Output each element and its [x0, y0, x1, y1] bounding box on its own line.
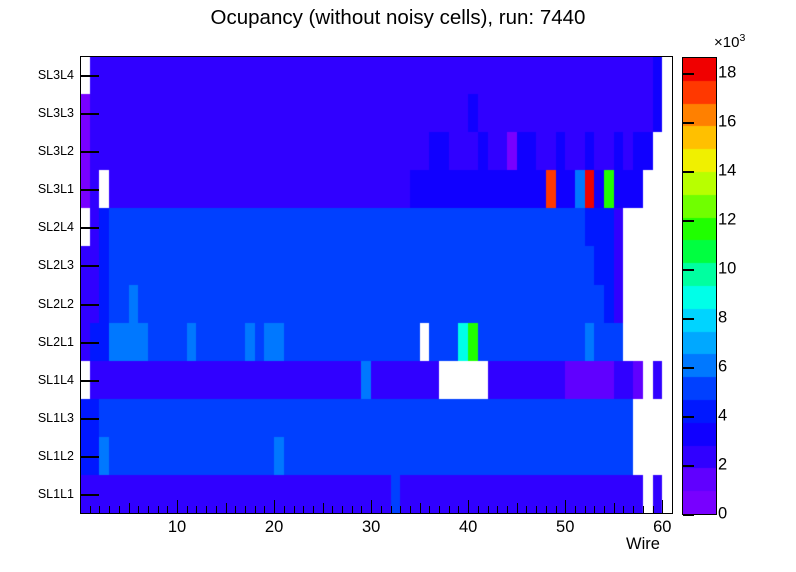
x-axis-tick-39 — [458, 506, 459, 513]
y-axis-tick-label-sl1l3: SL1L3 — [0, 411, 74, 425]
y-axis-tick-sl2l1 — [80, 342, 99, 344]
x-axis-tick-50 — [565, 500, 566, 513]
x-axis-tick-47 — [536, 506, 537, 513]
colorbar-tick-label-8: 8 — [718, 308, 727, 327]
x-axis-tick-label-30: 30 — [362, 518, 380, 537]
x-axis-tick-54 — [604, 506, 605, 513]
y-axis-tick-label-sl2l2: SL2L2 — [0, 297, 74, 311]
colorbar-tick-10 — [683, 269, 694, 271]
x-axis-tick-46 — [526, 506, 527, 513]
x-axis-tick-42 — [488, 506, 489, 513]
y-axis-tick-sl1l2 — [80, 456, 99, 458]
x-axis-tick-37 — [439, 506, 440, 513]
x-axis-tick-6 — [138, 506, 139, 513]
x-axis-tick-26 — [332, 506, 333, 513]
colorbar-tick-label-2: 2 — [718, 455, 727, 474]
y-axis-tick-sl2l2 — [80, 304, 99, 306]
x-axis-tick-8 — [158, 506, 159, 513]
x-axis-tick-44 — [507, 506, 508, 513]
colorbar-border-right — [716, 57, 717, 515]
axis-frame-bottom — [80, 513, 673, 514]
y-axis-tick-sl2l4 — [80, 227, 99, 229]
colorbar-gradient — [683, 58, 716, 514]
x-axis-tick-57 — [633, 506, 634, 513]
x-axis-tick-23 — [303, 506, 304, 513]
colorbar-tick-12 — [683, 220, 694, 222]
root-canvas: Ocupancy (without noisy cells), run: 744… — [0, 0, 796, 572]
x-axis-tick-22 — [294, 506, 295, 513]
y-axis-tick-sl3l4 — [80, 75, 99, 77]
x-axis-tick-43 — [497, 506, 498, 513]
x-axis-tick-19 — [264, 506, 265, 513]
y-axis-tick-sl1l3 — [80, 418, 99, 420]
x-axis-tick-36 — [429, 506, 430, 513]
colorbar-tick-4 — [683, 416, 694, 418]
x-axis-tick-5 — [129, 503, 130, 513]
y-axis-tick-label-sl1l2: SL1L2 — [0, 449, 74, 463]
x-axis-tick-34 — [410, 506, 411, 513]
x-axis-tick-11 — [187, 506, 188, 513]
x-axis-tick-30 — [371, 500, 372, 513]
colorbar-tick-label-18: 18 — [718, 63, 736, 82]
axis-frame-top — [80, 56, 673, 57]
x-axis-tick-21 — [284, 506, 285, 513]
x-axis-tick-58 — [643, 506, 644, 513]
x-axis-tick-27 — [342, 506, 343, 513]
colorbar-tick-8 — [683, 318, 694, 320]
x-axis-tick-33 — [400, 506, 401, 513]
y-axis-tick-label-sl3l2: SL3L2 — [0, 144, 74, 158]
x-axis-tick-14 — [216, 506, 217, 513]
x-axis-tick-2 — [99, 506, 100, 513]
x-axis-tick-60 — [662, 500, 663, 513]
colorbar-tick-label-14: 14 — [718, 161, 736, 180]
colorbar-tick-label-4: 4 — [718, 406, 727, 425]
y-axis-tick-label-sl3l4: SL3L4 — [0, 68, 74, 82]
x-axis-tick-59 — [653, 506, 654, 513]
x-axis-tick-52 — [585, 506, 586, 513]
page-title: Ocupancy (without noisy cells), run: 744… — [0, 6, 796, 30]
x-axis-tick-3 — [109, 506, 110, 513]
x-axis-tick-label-50: 50 — [556, 518, 574, 537]
x-axis-tick-10 — [177, 500, 178, 513]
y-axis-tick-label-sl1l1: SL1L1 — [0, 487, 74, 501]
x-axis-title: Wire — [626, 535, 660, 554]
x-axis-tick-35 — [420, 503, 421, 513]
axis-frame-left — [80, 56, 81, 514]
x-axis-tick-label-40: 40 — [459, 518, 477, 537]
colorbar-tick-0 — [683, 514, 694, 516]
y-axis-tick-label-sl3l1: SL3L1 — [0, 182, 74, 196]
colorbar-tick-6 — [683, 367, 694, 369]
x-axis-tick-label-20: 20 — [265, 518, 283, 537]
x-axis-tick-1 — [90, 506, 91, 513]
x-axis-tick-48 — [546, 506, 547, 513]
colorbar-exponent: ×103 — [714, 32, 745, 51]
colorbar-exponent-power: 3 — [739, 32, 745, 44]
x-axis-tick-13 — [206, 506, 207, 513]
x-axis-tick-24 — [313, 506, 314, 513]
y-axis-tick-sl3l3 — [80, 113, 99, 115]
colorbar-tick-18 — [683, 73, 694, 75]
x-axis-tick-17 — [245, 506, 246, 513]
y-axis-tick-label-sl1l4: SL1L4 — [0, 373, 74, 387]
colorbar-border-left — [682, 57, 683, 515]
x-axis-tick-53 — [594, 506, 595, 513]
y-axis-tick-sl2l3 — [80, 265, 99, 267]
y-axis-tick-label-sl3l3: SL3L3 — [0, 106, 74, 120]
y-axis-tick-label-sl2l1: SL2L1 — [0, 335, 74, 349]
y-axis-tick-sl3l1 — [80, 189, 99, 191]
x-axis-tick-61 — [672, 506, 673, 513]
x-axis-tick-51 — [575, 506, 576, 513]
x-axis-tick-55 — [614, 503, 615, 513]
x-axis-tick-7 — [148, 506, 149, 513]
x-axis-tick-18 — [255, 506, 256, 513]
y-axis-tick-label-sl2l3: SL2L3 — [0, 258, 74, 272]
y-axis-tick-label-sl2l4: SL2L4 — [0, 220, 74, 234]
colorbar-tick-label-6: 6 — [718, 357, 727, 376]
x-axis-tick-4 — [119, 506, 120, 513]
x-axis-tick-45 — [517, 503, 518, 513]
x-axis-tick-9 — [167, 506, 168, 513]
x-axis-tick-20 — [274, 500, 275, 513]
x-axis-tick-32 — [391, 506, 392, 513]
y-axis-tick-sl3l2 — [80, 151, 99, 153]
axis-frame-right — [672, 56, 673, 514]
x-axis-tick-56 — [623, 506, 624, 513]
x-axis-tick-31 — [381, 506, 382, 513]
colorbar-exponent-base: ×10 — [714, 34, 739, 51]
x-axis-tick-label-10: 10 — [168, 518, 186, 537]
x-axis-tick-15 — [226, 503, 227, 513]
x-axis-tick-38 — [449, 506, 450, 513]
colorbar-tick-label-0: 0 — [718, 505, 727, 524]
y-axis-tick-sl1l1 — [80, 494, 99, 496]
x-axis-tick-41 — [478, 506, 479, 513]
colorbar-border-top — [682, 57, 717, 58]
x-axis-tick-16 — [235, 506, 236, 513]
colorbar-tick-14 — [683, 171, 694, 173]
x-axis-tick-40 — [468, 500, 469, 513]
heatmap-plot-area[interactable] — [80, 56, 672, 513]
x-axis-tick-25 — [323, 503, 324, 513]
colorbar-tick-label-16: 16 — [718, 112, 736, 131]
y-axis-tick-sl1l4 — [80, 380, 99, 382]
x-axis-tick-49 — [556, 506, 557, 513]
x-axis-tick-28 — [352, 506, 353, 513]
colorbar-tick-2 — [683, 465, 694, 467]
x-axis-tick-12 — [196, 506, 197, 513]
colorbar-tick-label-12: 12 — [718, 210, 736, 229]
colorbar-tick-label-10: 10 — [718, 259, 736, 278]
x-axis-tick-29 — [361, 506, 362, 513]
colorbar-tick-16 — [683, 122, 694, 124]
